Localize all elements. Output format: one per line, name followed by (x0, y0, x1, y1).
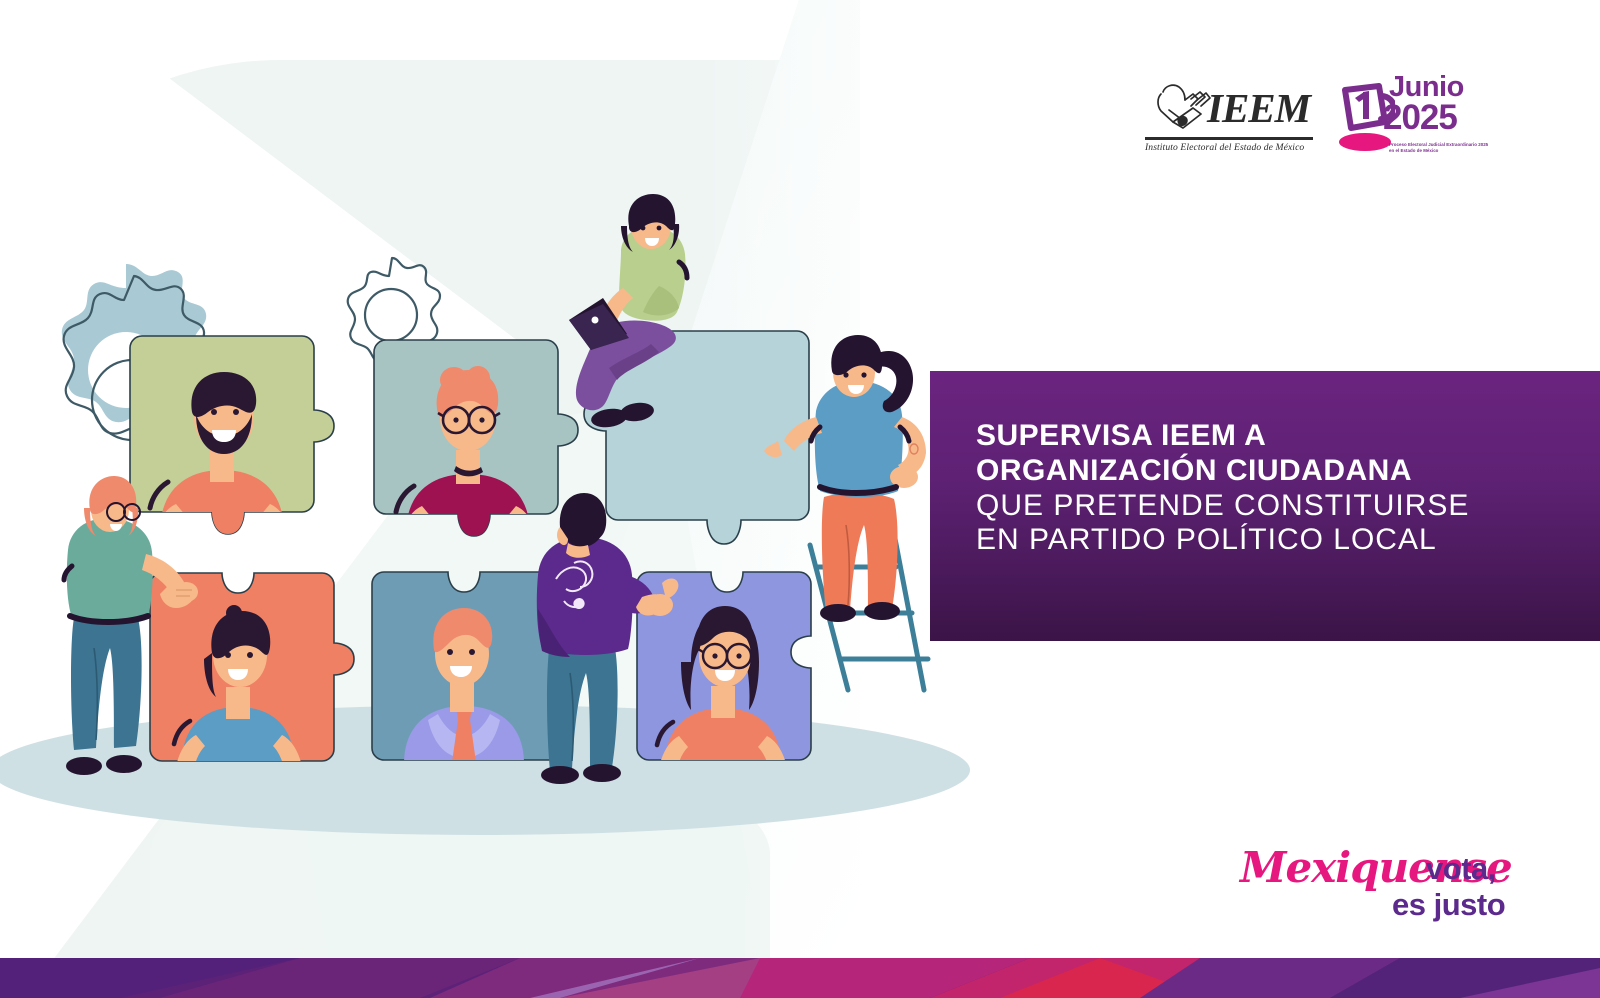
person-sitting-laptop[interactable] (563, 200, 743, 440)
tagline-bold-word-1: vota, (1426, 851, 1496, 887)
ieem-rule (1145, 137, 1313, 140)
headline-line-2: ORGANIZACIÓN CIUDADANA (976, 454, 1582, 489)
decorative-bottom-bar (0, 958, 1600, 998)
logo-row: IEEM Instituto Electoral del Estado de M… (1145, 72, 1490, 172)
person-on-ladder[interactable] (790, 345, 950, 690)
ieem-wordmark: IEEM (1207, 88, 1310, 129)
junio-2025-logo[interactable]: Junio 2025 Proceso Electoral Judicial Ex… (1337, 76, 1492, 172)
ieem-subtitle: Instituto Electoral del Estado de México (1145, 142, 1325, 153)
tagline-bold-word-2: es justo (1392, 887, 1505, 923)
junio-fine-print: Proceso Electoral Judicial Extraordinari… (1389, 142, 1494, 155)
mexiquense-vota-tagline: Mexiquense vota, es justo (1240, 843, 1540, 928)
headline-panel: SUPERVISA IEEM A ORGANIZACIÓN CIUDADANA … (930, 371, 1600, 641)
headline-line-1: SUPERVISA IEEM A (976, 419, 1582, 454)
junio-year: 2025 (1383, 102, 1457, 134)
headline-line-4: EN PARTIDO POLÍTICO LOCAL (976, 523, 1582, 558)
headline-line-3: QUE PRETENDE CONSTITUIRSE (976, 489, 1582, 524)
ieem-logo[interactable]: IEEM Instituto Electoral del Estado de M… (1145, 80, 1325, 153)
person-pointing-center[interactable] (530, 505, 680, 795)
poster-canvas: SUPERVISA IEEM A ORGANIZACIÓN CIUDADANA … (0, 0, 1600, 998)
person-holding-piece-left[interactable] (58, 488, 198, 788)
